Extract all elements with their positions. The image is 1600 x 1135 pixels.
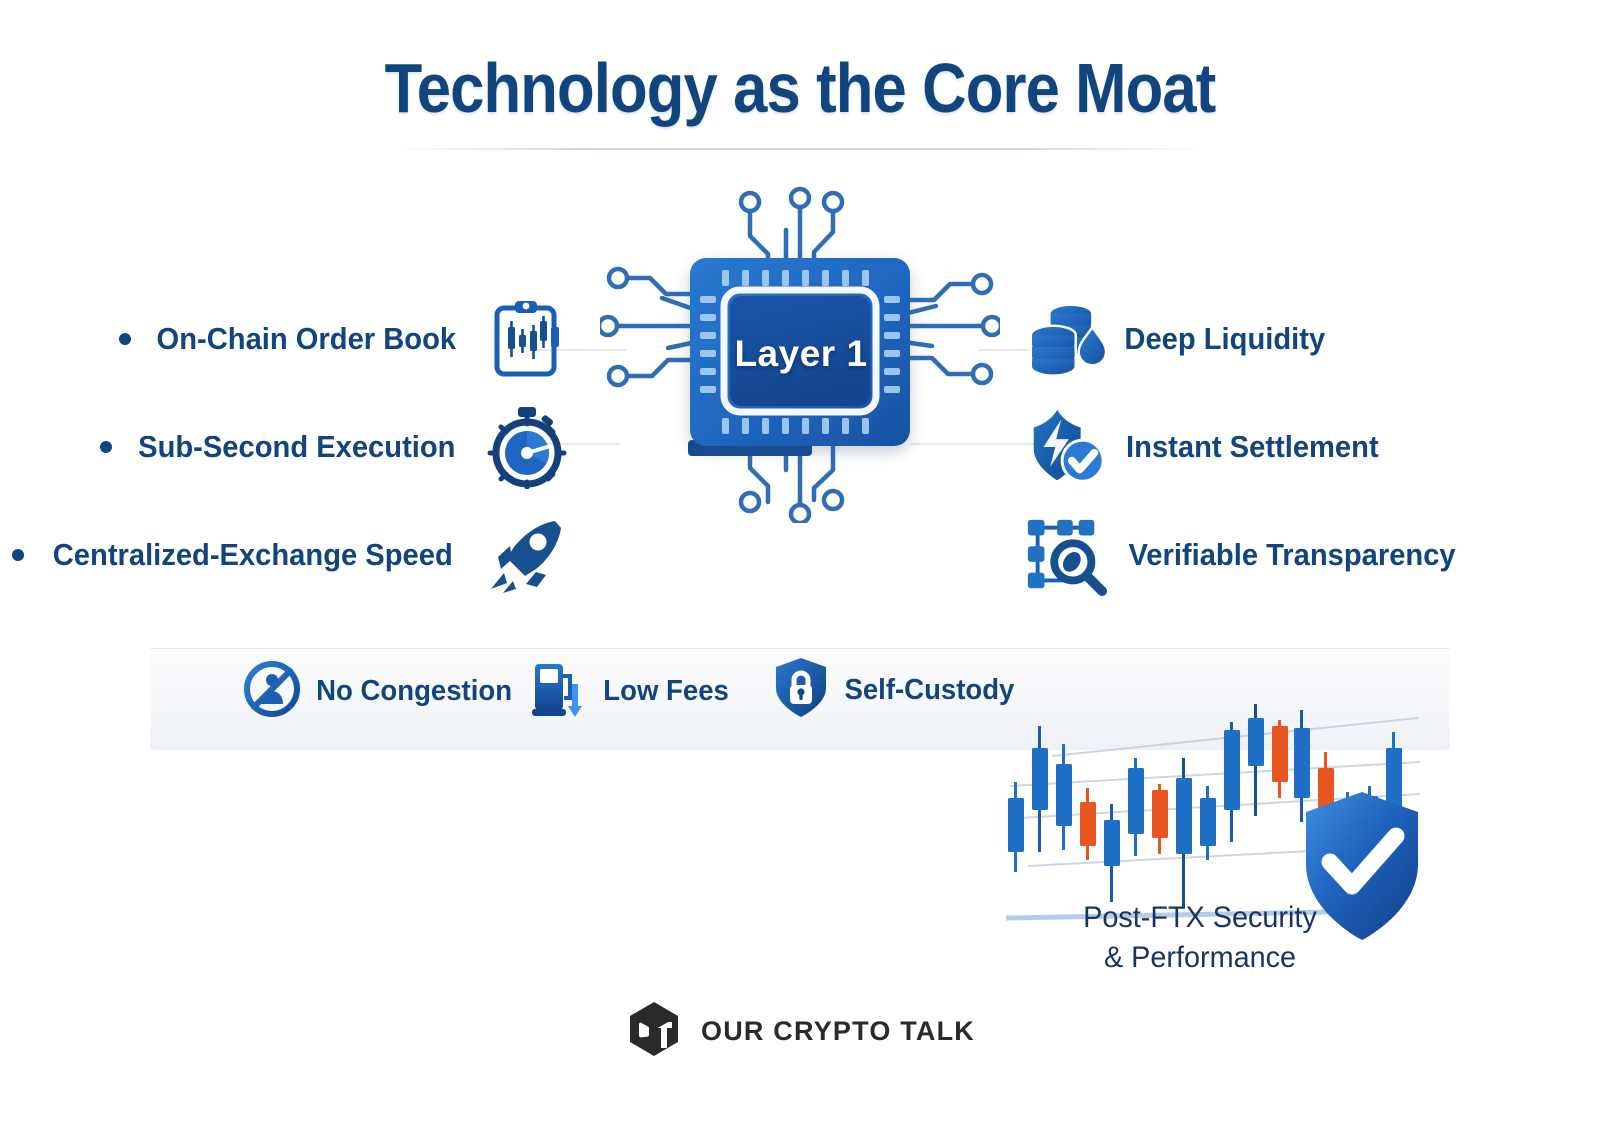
- shield-bolt-check-icon: [1022, 404, 1108, 490]
- feature-instant-settlement[interactable]: Instant Settlement: [1022, 404, 1387, 490]
- feature-label: Verifiable Transparency: [1128, 537, 1455, 573]
- clipboard-candlestick-icon: [484, 296, 570, 382]
- cpu-chip-icon: [600, 178, 1000, 523]
- coins-droplet-icon: [1022, 296, 1108, 382]
- infographic-canvas: Technology as the Core Moat: [0, 0, 1600, 1135]
- feature-verifiable-transparency[interactable]: Verifiable Transparency: [1022, 512, 1466, 598]
- badge-no-congestion[interactable]: No Congestion: [243, 660, 517, 723]
- feature-label: Instant Settlement: [1126, 429, 1379, 465]
- feature-label: Deep Liquidity: [1124, 321, 1325, 357]
- badge-label: Self-Custody: [844, 674, 1014, 707]
- feature-centralized-exchange-speed[interactable]: Centralized-Exchange Speed: [60, 512, 570, 598]
- oct-hexagon-logo-icon: [625, 1000, 683, 1063]
- feature-sub-second-execution[interactable]: Sub-Second Execution: [110, 404, 570, 490]
- feature-on-chain-order-book[interactable]: On-Chain Order Book: [110, 296, 570, 382]
- stopwatch-icon: [484, 404, 570, 490]
- page-title: Technology as the Core Moat: [96, 48, 1504, 128]
- title-divider: [390, 148, 1210, 150]
- bullet-icon: [119, 333, 131, 345]
- layer1-chip: Layer 1: [600, 178, 1000, 523]
- bullet-icon: [12, 549, 24, 561]
- badge-label: No Congestion: [316, 675, 512, 708]
- bullet-icon: [100, 441, 112, 453]
- feature-deep-liquidity[interactable]: Deep Liquidity: [1022, 296, 1332, 382]
- chart-caption-line1: Post-FTX Security: [1083, 901, 1317, 934]
- brand-name: OUR CRYPTO TALK: [701, 1016, 975, 1047]
- fuel-pump-down-arrow-icon: [530, 658, 590, 725]
- rocket-icon: [484, 512, 570, 598]
- badge-low-fees[interactable]: Low Fees: [530, 658, 732, 725]
- chart-caption: Post-FTX Security & Performance: [1008, 898, 1392, 977]
- badge-label: Low Fees: [603, 675, 729, 708]
- feature-label: Sub-Second Execution: [139, 429, 456, 465]
- shield-lock-icon: [772, 656, 830, 725]
- footer-brand: OUR CRYPTO TALK: [0, 1000, 1600, 1063]
- feature-label: Centralized-Exchange Speed: [53, 537, 453, 573]
- chart-caption-line2: & Performance: [1008, 938, 1392, 978]
- badge-self-custody[interactable]: Self-Custody: [772, 656, 1019, 725]
- feature-label: On-Chain Order Book: [157, 321, 457, 357]
- no-entry-icon: [243, 660, 301, 723]
- magnifier-network-icon: [1022, 512, 1108, 598]
